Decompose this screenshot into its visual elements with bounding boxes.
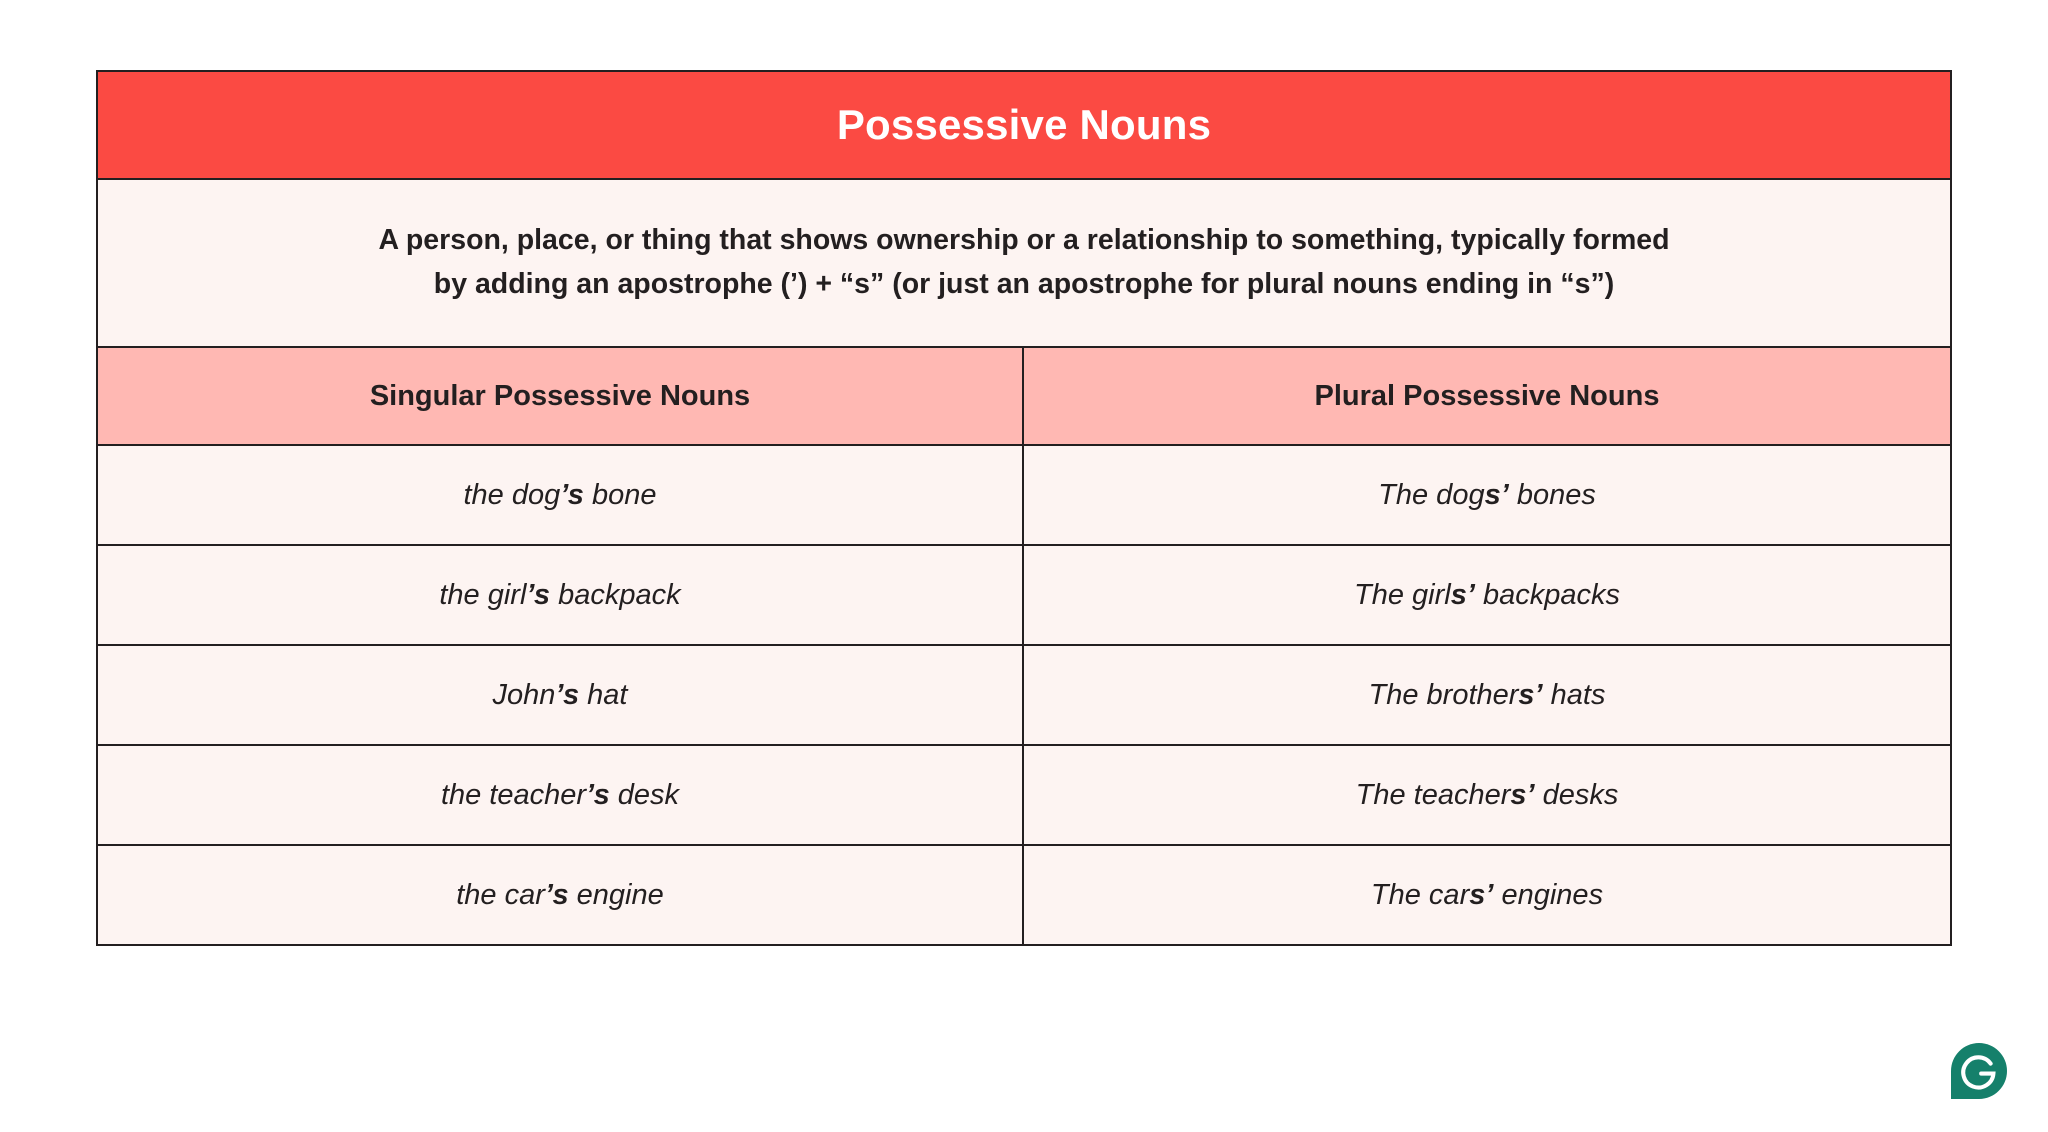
examples-grid: Singular Possessive Nouns Plural Possess… [98, 348, 1950, 944]
example-text: The dogs’ bones [1378, 479, 1596, 512]
cell-plural-2: The girls’ backpacks [1024, 546, 1950, 644]
definition-line-1: A person, place, or thing that shows own… [218, 218, 1830, 262]
example-text: The brothers’ hats [1369, 679, 1606, 712]
table-row: the car’s engine The cars’ engines [98, 846, 1950, 944]
cell-singular-5: the car’s engine [98, 846, 1024, 944]
cell-plural-4: The teachers’ desks [1024, 746, 1950, 844]
example-text: the girl’s backpack [439, 579, 680, 612]
cell-singular-3: John’s hat [98, 646, 1024, 744]
cell-singular-2: the girl’s backpack [98, 546, 1024, 644]
example-text: The girls’ backpacks [1354, 579, 1620, 612]
column-header-singular: Singular Possessive Nouns [98, 348, 1024, 444]
definition-block: A person, place, or thing that shows own… [98, 180, 1950, 348]
cell-plural-1: The dogs’ bones [1024, 446, 1950, 544]
example-text: the car’s engine [456, 879, 664, 912]
table-row: the teacher’s desk The teachers’ desks [98, 746, 1950, 846]
cell-plural-5: The cars’ engines [1024, 846, 1950, 944]
example-text: The teachers’ desks [1356, 779, 1619, 812]
cell-singular-1: the dog’s bone [98, 446, 1024, 544]
cell-singular-4: the teacher’s desk [98, 746, 1024, 844]
possessive-nouns-table: Possessive Nouns A person, place, or thi… [96, 70, 1952, 946]
table-row: the dog’s bone The dogs’ bones [98, 446, 1950, 546]
table-row: the girl’s backpack The girls’ backpacks [98, 546, 1950, 646]
example-text: John’s hat [493, 679, 628, 712]
cell-plural-3: The brothers’ hats [1024, 646, 1950, 744]
table-header-row: Singular Possessive Nouns Plural Possess… [98, 348, 1950, 446]
example-text: the dog’s bone [463, 479, 656, 512]
page-canvas: Possessive Nouns A person, place, or thi… [0, 0, 2048, 1132]
page-title: Possessive Nouns [837, 104, 1211, 146]
table-row: John’s hat The brothers’ hats [98, 646, 1950, 746]
definition-line-2: by adding an apostrophe (’) + “s” (or ju… [218, 262, 1830, 306]
table-title-banner: Possessive Nouns [98, 72, 1950, 180]
grammarly-logo-icon [1951, 1043, 2007, 1099]
column-header-plural: Plural Possessive Nouns [1024, 348, 1950, 444]
example-text: The cars’ engines [1371, 879, 1603, 912]
example-text: the teacher’s desk [441, 779, 679, 812]
